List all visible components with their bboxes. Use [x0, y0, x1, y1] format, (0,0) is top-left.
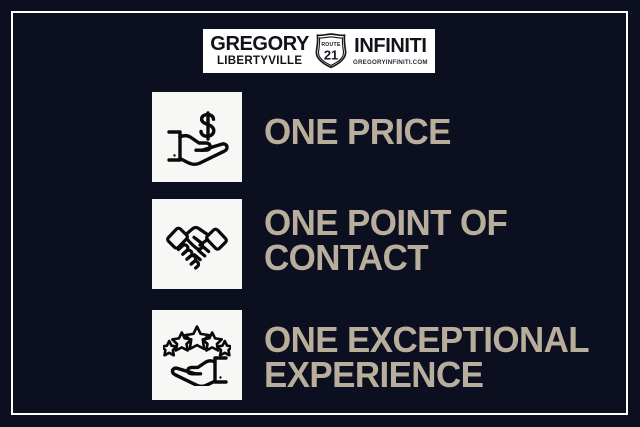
icon-tile [152, 92, 242, 182]
logo-website-text: GREGORYINFINITI.COM [353, 60, 428, 66]
feature-label: ONE PRICE [264, 114, 451, 149]
svg-text:21: 21 [324, 47, 338, 62]
logo-brand-text: GREGORY [210, 34, 309, 54]
feature-label: ONE EXCEPTIONAL EXPERIENCE [264, 322, 589, 393]
feature-row: ONE EXCEPTIONAL EXPERIENCE [152, 310, 599, 400]
logo-make-text: INFINITI [354, 36, 426, 56]
feature-row: ONE POINT OF CONTACT [152, 199, 515, 289]
dealership-logo: GREGORY LIBERTYVILLE ROUTE 21 INFINITI G… [203, 29, 435, 73]
logo-infiniti-block: INFINITI GREGORYINFINITI.COM [353, 36, 428, 66]
icon-tile [152, 199, 242, 289]
icon-tile [152, 310, 242, 400]
feature-row: ONE PRICE [152, 92, 457, 182]
logo-location-text: LIBERTYVILLE [217, 56, 302, 68]
hand-holding-stars-icon [163, 324, 231, 386]
handshake-icon [165, 218, 229, 270]
hand-holding-dollar-icon [164, 106, 230, 168]
promo-graphic: GREGORY LIBERTYVILLE ROUTE 21 INFINITI G… [0, 0, 640, 427]
feature-label: ONE POINT OF CONTACT [264, 205, 507, 276]
logo-gregory-block: GREGORY LIBERTYVILLE [210, 34, 309, 68]
route-21-shield-icon: ROUTE 21 [314, 33, 348, 69]
